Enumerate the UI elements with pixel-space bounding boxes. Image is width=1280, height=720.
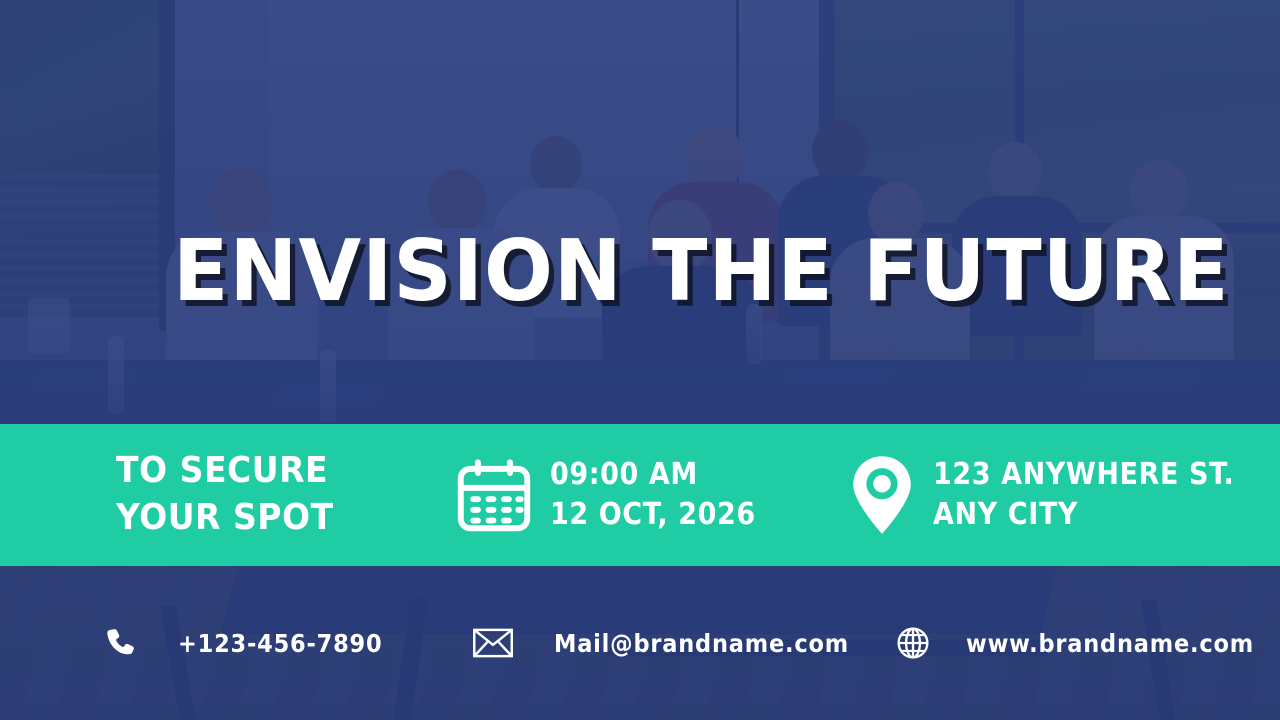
- contact-bar: +123-456-7890 Mail@brandname.com www.bra…: [0, 566, 1280, 720]
- event-date: 12 OCT, 2026: [550, 495, 756, 535]
- date-block: 09:00 AM 12 OCT, 2026: [456, 455, 851, 534]
- headline-container: ENVISION THE FUTURE: [0, 222, 1280, 322]
- cta-line-1: TO SECURE: [116, 448, 334, 495]
- phone-number: +123-456-7890: [178, 629, 382, 658]
- contact-website[interactable]: www.brandname.com: [896, 626, 1254, 660]
- calendar-icon: [456, 457, 532, 533]
- location-block: 123 ANYWHERE ST. ANY CITY: [851, 455, 1234, 535]
- cta-block: TO SECURE YOUR SPOT: [116, 448, 456, 542]
- website-url: www.brandname.com: [966, 629, 1254, 658]
- event-poster: ENVISION THE FUTURE TO SECURE YOUR SPOT: [0, 0, 1280, 720]
- phone-icon: [104, 626, 138, 660]
- event-time: 09:00 AM: [550, 455, 756, 495]
- page-title: ENVISION THE FUTURE: [173, 232, 1230, 313]
- map-pin-icon: [851, 455, 913, 535]
- globe-icon: [896, 626, 930, 660]
- email-address: Mail@brandname.com: [554, 629, 849, 658]
- address-line-1: 123 ANYWHERE ST.: [933, 455, 1234, 495]
- contact-phone[interactable]: +123-456-7890: [104, 626, 382, 660]
- envelope-icon: [472, 628, 514, 658]
- address-line-2: ANY CITY: [933, 495, 1234, 535]
- cta-line-2: YOUR SPOT: [116, 495, 334, 542]
- event-info-band: TO SECURE YOUR SPOT: [0, 424, 1280, 566]
- contact-email[interactable]: Mail@brandname.com: [472, 628, 849, 658]
